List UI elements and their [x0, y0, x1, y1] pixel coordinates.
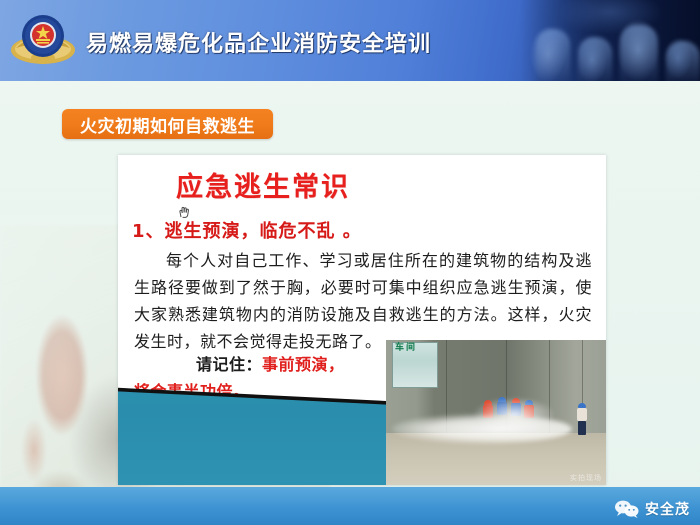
slide-paragraph: 每个人对自己工作、学习或居住所在的建筑物的结构及逃生路径要做到了然于胸，必要时可…	[134, 247, 592, 355]
watermark: 安全茂	[614, 499, 690, 519]
footer-blue-bar: 安全茂	[0, 487, 700, 525]
presentation-header: 易燃易爆危化品企业消防安全培训	[0, 0, 700, 81]
hand-cursor	[176, 204, 192, 220]
workshop-sign-text: 车间	[395, 340, 417, 353]
slide-screenshot: 易燃易爆危化品企业消防安全培训 安全茂 火灾初	[0, 0, 700, 525]
slide-item-heading: 1、逃生预演，临危不乱 。	[132, 217, 362, 243]
drill-worker-running	[576, 403, 588, 437]
section-banner-label: 火灾初期如何自救逃生	[80, 112, 255, 137]
page-title: 易燃易爆危化品企业消防安全培训	[86, 26, 431, 58]
firefighters-night-photo	[520, 0, 700, 81]
section-banner: 火灾初期如何自救逃生	[62, 109, 273, 139]
watermark-account-name: 安全茂	[645, 499, 690, 519]
fire-service-emblem	[8, 10, 78, 68]
slide-title: 应急逃生常识	[176, 165, 350, 204]
fire-evacuation-drill-photo: 车间	[386, 340, 606, 485]
wechat-icon	[614, 500, 640, 518]
photo-watermark: 实拍现场	[570, 473, 602, 483]
workshop-sign: 车间	[392, 342, 438, 388]
